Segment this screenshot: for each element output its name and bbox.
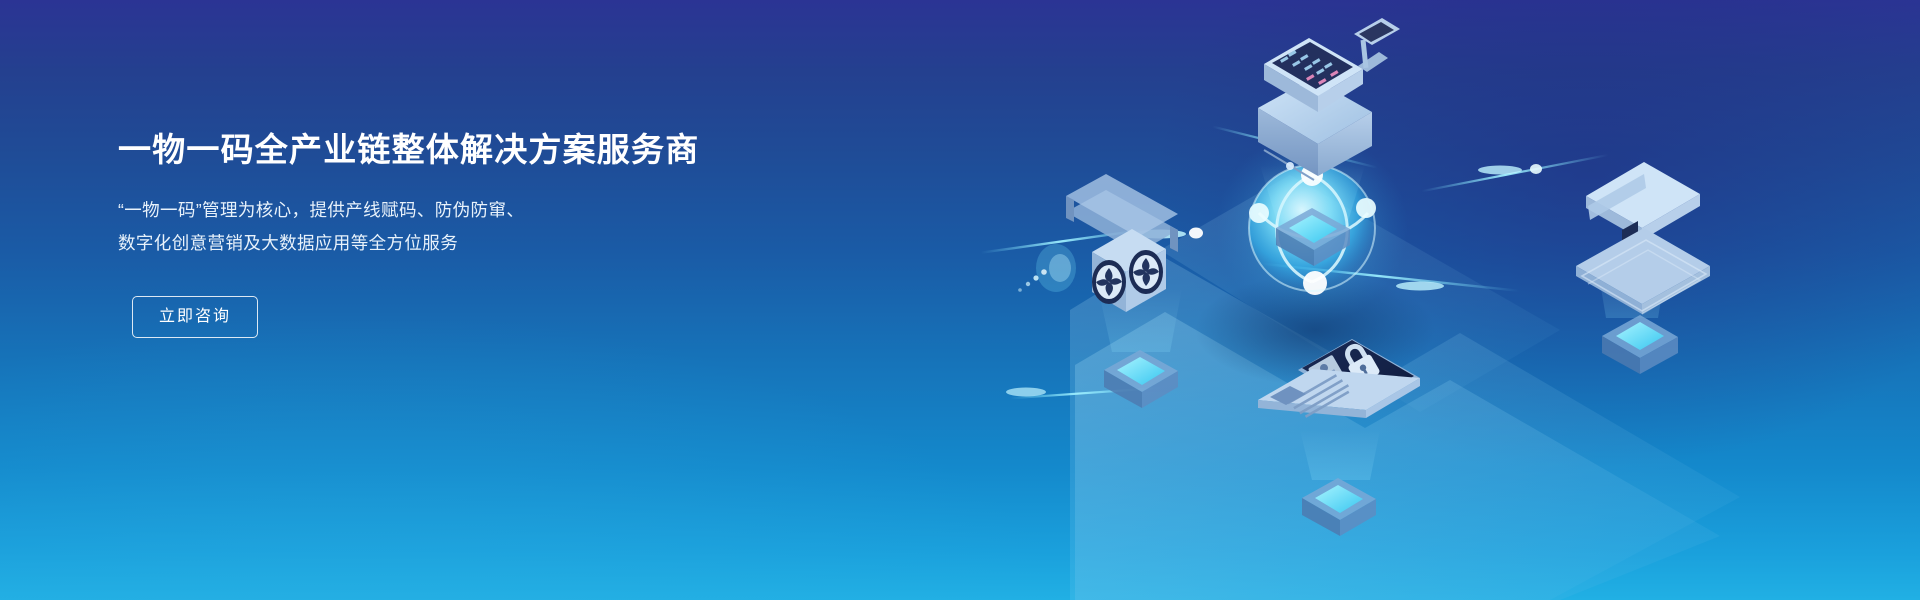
airflow-particles <box>1018 244 1076 292</box>
hero-subtitle-line-1: “一物一码”管理为核心，提供产线赋码、防伪防窜、 <box>118 194 738 227</box>
pedestal-bank <box>1602 315 1678 374</box>
hero-illustration <box>860 0 1920 600</box>
page-title: 一物一码全产业链整体解决方案服务商 <box>118 128 738 172</box>
hero-subtitle: “一物一码”管理为核心，提供产线赋码、防伪防窜、 数字化创意营销及大数据应用等全… <box>118 194 738 260</box>
hero-subtitle-line-2: 数字化创意营销及大数据应用等全方位服务 <box>118 227 738 260</box>
hero-copy: 一物一码全产业链整体解决方案服务商 “一物一码”管理为核心，提供产线赋码、防伪防… <box>118 128 738 338</box>
hero-banner: 一物一码全产业链整体解决方案服务商 “一物一码”管理为核心，提供产线赋码、防伪防… <box>0 0 1920 600</box>
consult-now-button[interactable]: 立即咨询 <box>132 296 258 338</box>
